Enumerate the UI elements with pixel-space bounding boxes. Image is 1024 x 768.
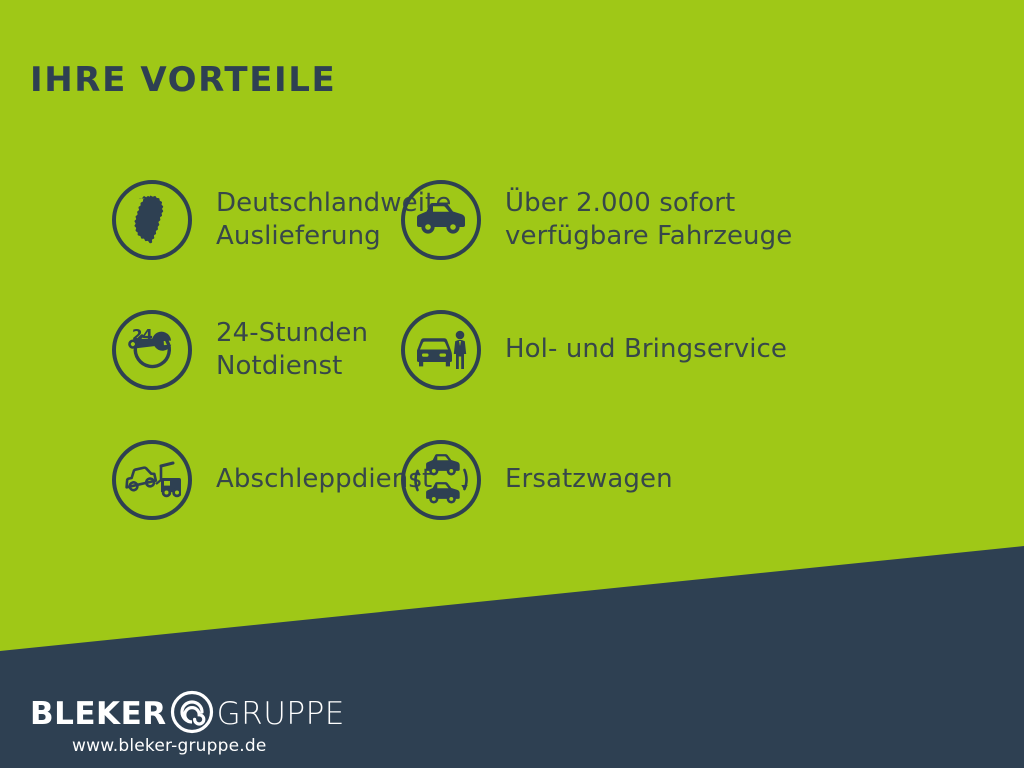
logo-light-text: GRUPPE: [217, 699, 345, 730]
benefit-row: Deutschlandweite Auslieferung: [0, 155, 1024, 285]
benefit-column-right: Ersatzwagen: [400, 415, 1000, 545]
logo-wordmark: BLEKER GRUPPE: [30, 694, 430, 734]
benefit-column-left: Abschleppdienst: [0, 415, 400, 545]
benefit-item-ersatzwagen[interactable]: Ersatzwagen: [401, 415, 673, 545]
benefit-label: Ersatzwagen: [505, 463, 673, 496]
benefit-item-24-stunden-notdienst[interactable]: 24 24-Stunden Notdienst: [112, 285, 368, 415]
benefit-column-right: Über 2.000 sofort verfügbare Fahrzeuge: [400, 155, 1000, 285]
website-url[interactable]: www.bleker-gruppe.de: [72, 736, 430, 756]
benefit-item-abschleppdienst[interactable]: Abschleppdienst: [112, 415, 432, 545]
benefit-column-left: 24 24-Stunden Notdienst: [0, 285, 400, 415]
car-with-driver-icon: [401, 310, 481, 390]
benefit-row: 24 24-Stunden Notdienst: [0, 285, 1024, 415]
benefit-item-verfuegbare-fahrzeuge[interactable]: Über 2.000 sofort verfügbare Fahrzeuge: [401, 155, 792, 285]
slide-root: IHRE VORTEILE Deutschlandweite Ausliefer…: [0, 0, 1024, 768]
page-title: IHRE VORTEILE: [30, 62, 336, 99]
car-exchange-icon: [401, 440, 481, 520]
24-hour-wrench-icon: 24: [112, 310, 192, 390]
footer-logo[interactable]: BLEKER GRUPPE www.bleker-gruppe.de: [30, 694, 430, 756]
benefit-column-right: Hol- und Bringservice: [400, 285, 1000, 415]
benefit-grid: Deutschlandweite Auslieferung: [0, 155, 1024, 545]
spiral-circle-icon: [169, 689, 215, 739]
tow-truck-icon: [112, 440, 192, 520]
benefit-row: Abschleppdienst: [0, 415, 1024, 545]
benefit-label: 24-Stunden Notdienst: [216, 317, 368, 384]
benefit-column-left: Deutschlandweite Auslieferung: [0, 155, 400, 285]
benefit-item-hol-und-bringservice[interactable]: Hol- und Bringservice: [401, 285, 787, 415]
logo-bold-text: BLEKER: [30, 699, 167, 730]
car-side-icon: [401, 180, 481, 260]
germany-map-icon: [112, 180, 192, 260]
benefit-label: Hol- und Bringservice: [505, 333, 787, 366]
benefit-label: Über 2.000 sofort verfügbare Fahrzeuge: [505, 187, 792, 254]
